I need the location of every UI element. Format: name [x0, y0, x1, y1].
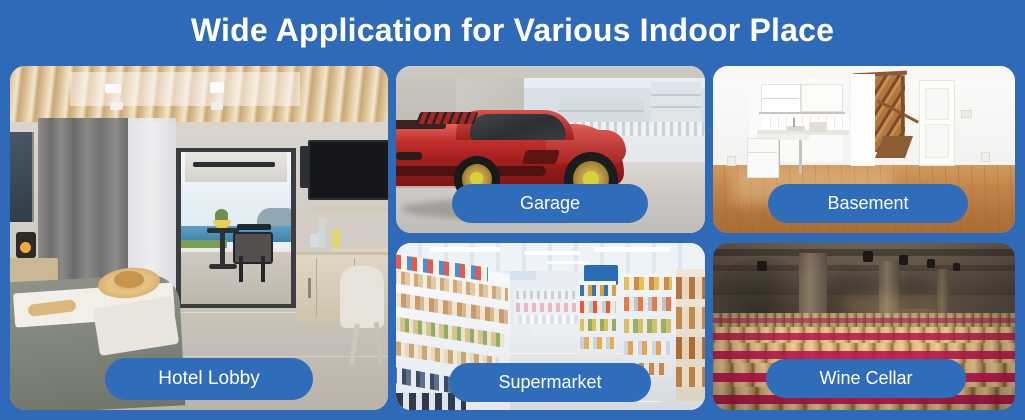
basement-backsplash-tile — [763, 116, 849, 130]
hotel-glass — [332, 230, 340, 247]
sports-car-taillight — [396, 152, 422, 160]
hotel-desk-chair — [340, 266, 384, 328]
basement-faucet — [793, 118, 795, 127]
label-hotel-lobby-text: Hotel Lobby — [158, 368, 259, 390]
gondola-shelf — [516, 291, 586, 299]
hotel-cabinet-handle — [308, 278, 311, 298]
hotel-sheer-curtain — [128, 118, 176, 290]
label-wine-cellar[interactable]: Wine Cellar — [766, 359, 966, 398]
gondola-shelf — [624, 277, 672, 290]
gondola-shelf — [580, 337, 614, 349]
basement-light-switch — [961, 110, 972, 118]
label-garage-text: Garage — [520, 193, 580, 214]
ceiling-light — [524, 251, 580, 255]
ceiling-light — [546, 261, 590, 264]
gondola-shelf — [516, 303, 586, 312]
ceiling-light — [594, 247, 670, 252]
gondola-shelf — [580, 301, 616, 313]
hotel-lamp-glow — [20, 242, 31, 253]
basement-appliance — [809, 122, 827, 132]
hotel-spotlight — [105, 84, 121, 93]
application-card-grid: Hotel Lobby — [10, 66, 1015, 410]
balcony-table-leg — [220, 232, 225, 266]
hotel-spotlight — [210, 82, 224, 93]
hotel-glass — [310, 234, 319, 247]
basement-stair-post — [901, 76, 904, 136]
promo-banner: Wide Application for Various Indoor Plac… — [0, 0, 1025, 420]
sports-car-vent — [416, 112, 479, 124]
card-hotel-lobby[interactable]: Hotel Lobby — [10, 66, 388, 410]
gondola-shelf — [580, 319, 616, 331]
label-hotel-lobby[interactable]: Hotel Lobby — [105, 358, 313, 400]
balcony-awning-bar — [193, 162, 275, 167]
balcony-chair-back — [237, 224, 271, 230]
hotel-balcony-view — [181, 152, 291, 304]
gondola-shelf — [580, 285, 616, 296]
gondola-shelf — [676, 337, 705, 359]
basement-sink — [787, 126, 805, 131]
balcony-table-base — [209, 264, 237, 269]
garage-building-band — [651, 106, 701, 108]
garage-building — [651, 82, 701, 124]
sports-car-air-intake — [522, 150, 560, 164]
basement-upper-shelf — [761, 84, 801, 114]
basement-door-panel — [925, 124, 949, 158]
gondola-shelf — [676, 277, 705, 299]
supermarket-sign — [510, 271, 536, 280]
balcony-awning — [185, 152, 287, 182]
hotel-sun-hat-crown — [114, 271, 144, 288]
label-garage[interactable]: Garage — [452, 184, 648, 223]
gondola-shelf — [518, 315, 584, 324]
basement-rail — [759, 112, 845, 114]
label-basement-text: Basement — [827, 193, 908, 214]
gondola-shelf — [624, 319, 672, 333]
basement-outlet — [981, 152, 990, 162]
basement-lower-shelf — [747, 138, 779, 178]
basement-door-panel — [925, 88, 949, 120]
card-supermarket[interactable]: Supermarket — [396, 243, 705, 410]
basement-shelf-divider — [747, 152, 777, 153]
hotel-spotlight — [110, 102, 123, 110]
label-supermarket-text: Supermarket — [498, 372, 601, 393]
hotel-water-bottle — [318, 218, 326, 248]
banner-title: Wide Application for Various Indoor Plac… — [0, 8, 1025, 52]
basement-outlet — [727, 156, 736, 166]
card-basement[interactable]: Basement — [713, 66, 1015, 233]
card-wine-cellar[interactable]: Wine Cellar — [713, 243, 1015, 410]
gondola-shelf — [676, 307, 705, 329]
basement-column — [851, 74, 875, 166]
hotel-shelf — [310, 206, 388, 212]
balcony-chair-leg — [239, 256, 243, 282]
ceiling-light — [430, 247, 500, 252]
card-garage[interactable]: Garage — [396, 66, 705, 233]
basement-shelf-divider — [761, 98, 799, 99]
garage-building-band — [558, 110, 644, 112]
garage-ceiling-edge — [396, 66, 705, 78]
label-supermarket[interactable]: Supermarket — [449, 363, 651, 402]
hotel-spotlight — [211, 102, 223, 110]
hotel-cabinet-seam — [316, 258, 317, 316]
basement-upper-cabinet — [801, 84, 843, 112]
hotel-mirror — [10, 132, 34, 222]
label-wine-cellar-text: Wine Cellar — [819, 368, 912, 389]
hotel-television — [308, 140, 388, 200]
basement-island-leg — [799, 140, 802, 174]
garage-building-band — [651, 94, 701, 96]
gondola-shelf — [624, 297, 672, 311]
gondola-shelf — [676, 367, 705, 387]
balcony-chair-leg — [261, 256, 265, 282]
gondola-shelf — [624, 341, 670, 355]
sports-car-window — [470, 114, 566, 140]
label-basement[interactable]: Basement — [768, 184, 968, 223]
